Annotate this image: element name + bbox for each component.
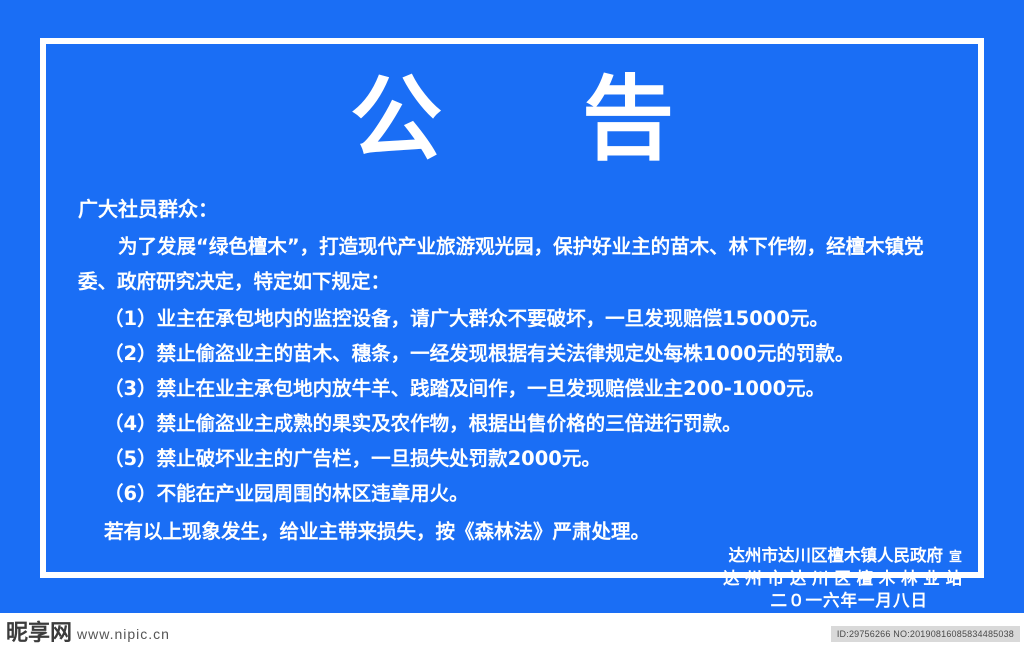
- signature-org-government-text: 达州市达川区檀木镇人民政府: [728, 546, 943, 565]
- salutation: 广大社员群众：: [78, 192, 954, 227]
- watermark-logo: 昵享网: [6, 623, 72, 645]
- notice-poster: 公 告 广大社员群众： 为了发展“绿色檀木”，打造现代产业旅游观光园，保护好业主…: [0, 0, 1024, 647]
- regulation-list: （1）业主在承包地内的监控设备，请广大群众不要破坏，一旦发现赔偿15000元。 …: [78, 301, 954, 511]
- watermark-url: www.nipic.cn: [77, 626, 170, 645]
- list-item: （4）禁止偷盗业主成熟的果实及农作物，根据出售价格的三倍进行罚款。: [78, 406, 954, 441]
- list-item: （1）业主在承包地内的监控设备，请广大群众不要破坏，一旦发现赔偿15000元。: [78, 301, 954, 336]
- signature-suffix: 宣: [949, 550, 962, 565]
- signature-org-government: 达州市达川区檀木镇人民政府宣: [542, 545, 962, 568]
- list-item: （6）不能在产业园周围的林区违章用火。: [78, 476, 954, 511]
- signature-block: 达州市达川区檀木镇人民政府宣 达 州 市 达 川 区 檀 木 林 业 站 二０一…: [542, 545, 962, 611]
- signature-date: 二０一六年一月八日: [542, 590, 962, 611]
- notice-body: 广大社员群众： 为了发展“绿色檀木”，打造现代产业旅游观光园，保护好业主的苗木、…: [78, 192, 954, 549]
- image-id-badge: ID:29756266 NO:20190816085834485038: [831, 626, 1020, 642]
- footer-bar: 昵享网 www.nipic.cn ID:29756266 NO:20190816…: [0, 613, 1024, 647]
- signature-org-forestry: 达 州 市 达 川 区 檀 木 林 业 站: [542, 568, 962, 589]
- closing-paragraph: 若有以上现象发生，给业主带来损失，按《森林法》严肃处理。: [78, 514, 954, 549]
- watermark: 昵享网 www.nipic.cn: [6, 623, 170, 645]
- list-item: （2）禁止偷盗业主的苗木、穗条，一经发现根据有关法律规定处每株1000元的罚款。: [78, 336, 954, 371]
- list-item: （3）禁止在业主承包地内放牛羊、践踏及间作，一旦发现赔偿业主200-1000元。: [78, 371, 954, 406]
- page-title: 公 告: [0, 72, 1024, 169]
- intro-paragraph: 为了发展“绿色檀木”，打造现代产业旅游观光园，保护好业主的苗木、林下作物，经檀木…: [78, 229, 954, 299]
- list-item: （5）禁止破坏业主的广告栏，一旦损失处罚款2000元。: [78, 441, 954, 476]
